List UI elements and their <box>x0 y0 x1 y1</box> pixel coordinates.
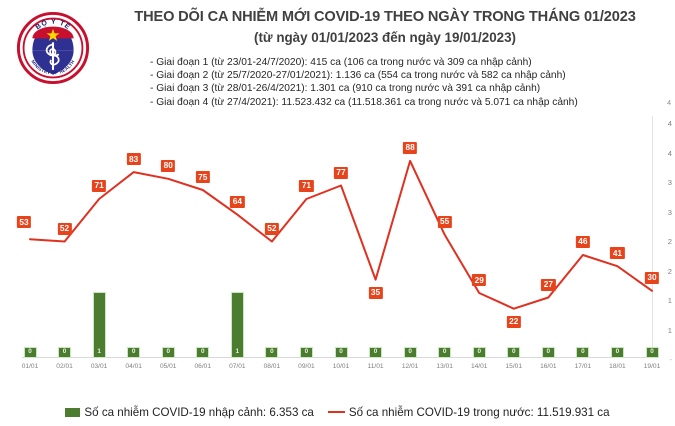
point-label-03-01: 71 <box>92 180 106 192</box>
phase-summary-list: - Giai đoạn 1 (từ 23/01-24/7/2020): 415 … <box>150 56 670 109</box>
ministry-of-health-logo: BỘ Y TẾ MINISTRY OF HEALTH <box>16 9 90 87</box>
point-label-19-01: 30 <box>645 272 659 284</box>
x-tick-14-01: 14/01 <box>471 362 488 371</box>
x-tick-18-01: 18/01 <box>609 362 626 371</box>
domestic-line-path <box>30 161 652 309</box>
chart-plot-area: 44332211- 0010001000000000000 5352718380… <box>0 112 675 374</box>
header: BỘ Y TẾ MINISTRY OF HEALTH THEO DÕI CA N… <box>0 0 675 112</box>
point-label-12-01: 88 <box>403 142 417 154</box>
chart-page: BỘ Y TẾ MINISTRY OF HEALTH THEO DÕI CA N… <box>0 0 675 426</box>
x-tick-01-01: 01/01 <box>22 362 39 371</box>
line-series-domestic <box>0 112 675 374</box>
x-tick-15-01: 15/01 <box>506 362 523 371</box>
x-tick-04-01: 04/01 <box>125 362 142 371</box>
legend-domestic-label: Số ca nhiễm COVID-19 trong nước: 11.519.… <box>349 406 610 419</box>
point-label-05-01: 80 <box>161 160 175 172</box>
phase-line-1: - Giai đoạn 1 (từ 23/01-24/7/2020): 415 … <box>150 56 670 69</box>
x-tick-19-01: 19/01 <box>644 362 661 371</box>
point-label-07-01: 64 <box>230 196 244 208</box>
x-tick-17-01: 17/01 <box>575 362 592 371</box>
legend-imported-label: Số ca nhiễm COVID-19 nhập cảnh: 6.353 ca <box>84 406 313 419</box>
phase-line-3: - Giai đoạn 3 (từ 28/01-26/4/2021): 1.30… <box>150 82 670 95</box>
point-label-04-01: 83 <box>127 153 141 165</box>
point-label-10-01: 77 <box>334 167 348 179</box>
point-label-14-01: 29 <box>472 274 486 286</box>
point-label-17-01: 46 <box>576 236 590 248</box>
x-tick-08-01: 08/01 <box>264 362 281 371</box>
point-label-18-01: 41 <box>610 247 624 259</box>
point-label-01-01: 53 <box>17 216 31 228</box>
x-tick-05-01: 05/01 <box>160 362 177 371</box>
x-tick-02-01: 02/01 <box>56 362 73 371</box>
point-label-09-01: 71 <box>299 180 313 192</box>
point-label-11-01: 35 <box>368 287 382 299</box>
x-axis-tick-labels: 01/0102/0103/0104/0105/0106/0107/0108/01… <box>0 360 675 374</box>
point-label-16-01: 27 <box>541 279 555 291</box>
page-number: 4 <box>667 100 671 107</box>
x-tick-06-01: 06/01 <box>195 362 212 371</box>
phase-line-2: - Giai đoạn 2 (từ 25/7/2020-27/01/2021):… <box>150 69 670 82</box>
legend-bar-swatch-icon <box>65 408 80 417</box>
x-tick-12-01: 12/01 <box>402 362 419 371</box>
x-tick-07-01: 07/01 <box>229 362 246 371</box>
phase-line-4: - Giai đoạn 4 (từ 27/4/2021): 11.523.432… <box>150 96 670 109</box>
page-title: THEO DÕI CA NHIỄM MỚI COVID-19 THEO NGÀY… <box>100 8 670 27</box>
x-tick-16-01: 16/01 <box>540 362 557 371</box>
title-block: THEO DÕI CA NHIỄM MỚI COVID-19 THEO NGÀY… <box>100 8 670 47</box>
point-label-02-01: 52 <box>57 223 71 235</box>
point-label-13-01: 55 <box>438 216 452 228</box>
x-tick-13-01: 13/01 <box>436 362 453 371</box>
legend-line-swatch-icon <box>328 411 345 414</box>
point-label-15-01: 22 <box>507 316 521 328</box>
x-tick-09-01: 09/01 <box>298 362 315 371</box>
point-label-06-01: 75 <box>196 171 210 183</box>
x-tick-10-01: 10/01 <box>333 362 350 371</box>
x-tick-03-01: 03/01 <box>91 362 108 371</box>
legend-item-domestic: Số ca nhiễm COVID-19 trong nước: 11.519.… <box>328 406 610 419</box>
legend-item-imported: Số ca nhiễm COVID-19 nhập cảnh: 6.353 ca <box>65 406 313 419</box>
page-subtitle: (từ ngày 01/01/2023 đến ngày 19/01/2023) <box>100 28 670 47</box>
point-label-08-01: 52 <box>265 223 279 235</box>
x-tick-11-01: 11/01 <box>368 362 384 371</box>
chart-legend: Số ca nhiễm COVID-19 nhập cảnh: 6.353 ca… <box>0 402 675 422</box>
